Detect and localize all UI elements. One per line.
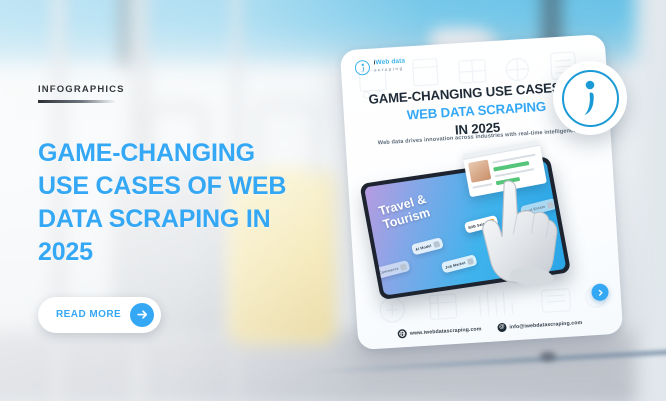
logo-tagline: scraping <box>374 67 406 73</box>
arrow-right-icon <box>130 303 154 327</box>
badge-i-glyph <box>579 78 601 118</box>
brand-badge[interactable] <box>553 61 627 135</box>
page-title: GAME-CHANGING USE CASES OF WEB DATA SCRA… <box>38 137 300 270</box>
chip-label: Job Market <box>445 260 466 269</box>
chip-label: E-Commerce <box>375 266 399 276</box>
logo-mark-icon <box>355 60 371 76</box>
card-logo-text: iWeb data scraping <box>374 59 406 73</box>
read-more-label: READ MORE <box>56 309 121 320</box>
eyebrow-underline <box>38 100 116 103</box>
pointing-hand-icon <box>465 174 567 290</box>
chevron-right-icon <box>596 288 604 296</box>
screen-heading: Travel & Tourism <box>377 192 432 232</box>
globe-icon <box>398 329 408 339</box>
badge-ring <box>562 70 619 127</box>
chip-ai-model[interactable]: AI Model <box>411 237 444 255</box>
at-sign-icon: @ <box>497 323 507 333</box>
browser-text-line <box>492 154 536 164</box>
tablet-illustration: Travel & Tourism E-Commerce AI Model Job… <box>347 146 621 314</box>
read-more-button[interactable]: READ MORE <box>38 297 161 333</box>
card-logo: iWeb data scraping <box>355 58 406 76</box>
slide-canvas: INFOGRAPHICS GAME-CHANGING USE CASES OF … <box>0 0 666 401</box>
chip-e-commerce[interactable]: E-Commerce <box>371 260 411 280</box>
chip-icon <box>400 263 408 270</box>
left-content-panel: INFOGRAPHICS GAME-CHANGING USE CASES OF … <box>38 84 338 333</box>
chip-label: AI Model <box>415 243 432 251</box>
category-eyebrow: INFOGRAPHICS <box>38 84 338 95</box>
chip-icon <box>432 240 440 247</box>
logo-i-glyph <box>359 63 366 73</box>
